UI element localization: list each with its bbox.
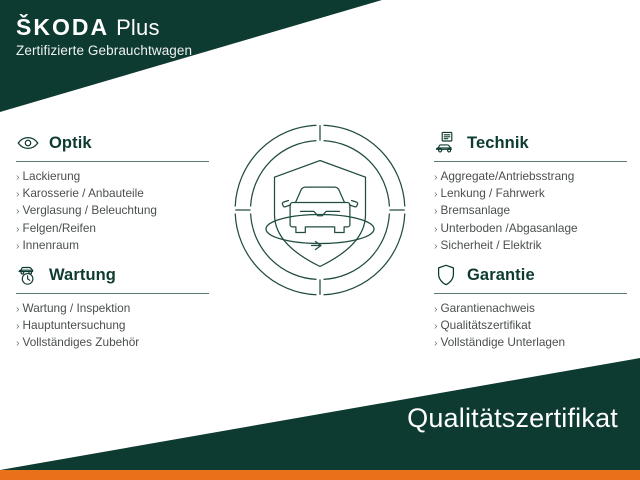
chevron-right-icon: › [16, 205, 20, 217]
section-divider [434, 161, 627, 162]
shield-icon [434, 263, 458, 287]
list-item-label: Felgen/Reifen [23, 221, 96, 235]
chevron-right-icon: › [16, 223, 20, 235]
list-item: ›Karosserie / Anbauteile [16, 185, 212, 202]
section-optik: Optik ›Lackierung ›Karosserie / Anbautei… [16, 130, 212, 254]
section-title: Garantie [467, 266, 535, 285]
list-item: ›Hauptuntersuchung [16, 317, 212, 334]
list-item-label: Aggregate/Antriebsstrang [441, 169, 575, 183]
inner-ring [251, 141, 390, 280]
car-clock-icon [16, 263, 40, 287]
section-divider [16, 293, 209, 294]
list-item-label: Lackierung [23, 169, 81, 183]
chevron-right-icon: › [434, 205, 438, 217]
section-header: Technik [434, 130, 630, 156]
certificate-page: ŠKODA Plus Zertifizierte Gebrauchtwagen … [0, 0, 640, 480]
brand-tagline: Zertifizierte Gebrauchtwagen [16, 43, 192, 58]
chevron-right-icon: › [16, 188, 20, 200]
chevron-right-icon: › [434, 223, 438, 235]
orange-accent-strip [0, 470, 640, 480]
section-item-list: ›Aggregate/Antriebsstrang ›Lenkung / Fah… [434, 168, 630, 254]
list-item-label: Vollständiges Zubehör [23, 335, 140, 349]
outer-ring [235, 125, 405, 295]
ring-gap-connectors [235, 125, 405, 295]
list-item: ›Aggregate/Antriebsstrang [434, 168, 630, 185]
list-item: ›Lackierung [16, 168, 212, 185]
eye-icon [16, 131, 40, 155]
shield-outline [275, 161, 366, 267]
list-item-label: Innenraum [23, 238, 79, 252]
chevron-right-icon: › [434, 188, 438, 200]
list-item: ›Bremsanlage [434, 202, 630, 219]
chevron-right-icon: › [16, 303, 20, 315]
list-item-label: Qualitätszertifikat [441, 318, 531, 332]
chevron-right-icon: › [434, 337, 438, 349]
list-item: ›Felgen/Reifen [16, 220, 212, 237]
orbit-ellipse [266, 215, 374, 244]
section-technik: Technik ›Aggregate/Antriebsstrang ›Lenku… [434, 130, 630, 254]
list-item: ›Vollständige Unterlagen [434, 334, 630, 351]
section-title: Technik [467, 134, 529, 153]
section-header: Garantie [434, 262, 630, 288]
list-item-label: Bremsanlage [441, 203, 511, 217]
brand-name-row: ŠKODA Plus [16, 14, 192, 41]
list-item-label: Sicherheit / Elektrik [441, 238, 542, 252]
list-item-label: Hauptuntersuchung [23, 318, 126, 332]
chevron-right-icon: › [434, 303, 438, 315]
list-item: ›Qualitätszertifikat [434, 317, 630, 334]
orbit-arrow-head [312, 242, 322, 250]
section-divider [16, 161, 209, 162]
brand-lockup: ŠKODA Plus Zertifizierte Gebrauchtwagen [16, 14, 192, 58]
brand-suffix: Plus [116, 15, 160, 41]
section-title: Optik [49, 134, 92, 153]
chevron-right-icon: › [434, 320, 438, 332]
section-wartung: Wartung ›Wartung / Inspektion ›Hauptunte… [16, 262, 212, 352]
chevron-right-icon: › [16, 337, 20, 349]
list-item-label: Vollständige Unterlagen [441, 335, 566, 349]
car-front-glyph [282, 187, 357, 232]
list-item-label: Lenkung / Fahrwerk [441, 186, 545, 200]
section-garantie: Garantie ›Garantienachweis ›Qualitätszer… [434, 262, 630, 352]
chevron-right-icon: › [434, 171, 438, 183]
chevron-right-icon: › [16, 171, 20, 183]
section-header: Wartung [16, 262, 212, 288]
list-item: ›Verglasung / Beleuchtung [16, 202, 212, 219]
list-item-label: Verglasung / Beleuchtung [23, 203, 157, 217]
list-item: ›Garantienachweis [434, 300, 630, 317]
list-item: ›Wartung / Inspektion [16, 300, 212, 317]
list-item: ›Vollständiges Zubehör [16, 334, 212, 351]
footer-title: Qualitätszertifikat [407, 403, 618, 434]
list-item: ›Sicherheit / Elektrik [434, 237, 630, 254]
chevron-right-icon: › [16, 240, 20, 252]
section-title: Wartung [49, 266, 116, 285]
list-item: ›Unterboden /Abgasanlage [434, 220, 630, 237]
list-item-label: Wartung / Inspektion [23, 301, 131, 315]
list-item-label: Karosserie / Anbauteile [23, 186, 144, 200]
chevron-right-icon: › [16, 320, 20, 332]
section-item-list: ›Lackierung ›Karosserie / Anbauteile ›Ve… [16, 168, 212, 254]
list-item-label: Unterboden /Abgasanlage [441, 221, 578, 235]
list-item: ›Lenkung / Fahrwerk [434, 185, 630, 202]
list-item-label: Garantienachweis [441, 301, 535, 315]
shielded-car-in-circle-icon [232, 122, 408, 298]
chevron-right-icon: › [434, 240, 438, 252]
section-header: Optik [16, 130, 212, 156]
car-checklist-icon [434, 131, 458, 155]
list-item: ›Innenraum [16, 237, 212, 254]
brand-name: ŠKODA [16, 14, 109, 41]
section-item-list: ›Wartung / Inspektion ›Hauptuntersuchung… [16, 300, 212, 352]
section-item-list: ›Garantienachweis ›Qualitätszertifikat ›… [434, 300, 630, 352]
section-divider [434, 293, 627, 294]
